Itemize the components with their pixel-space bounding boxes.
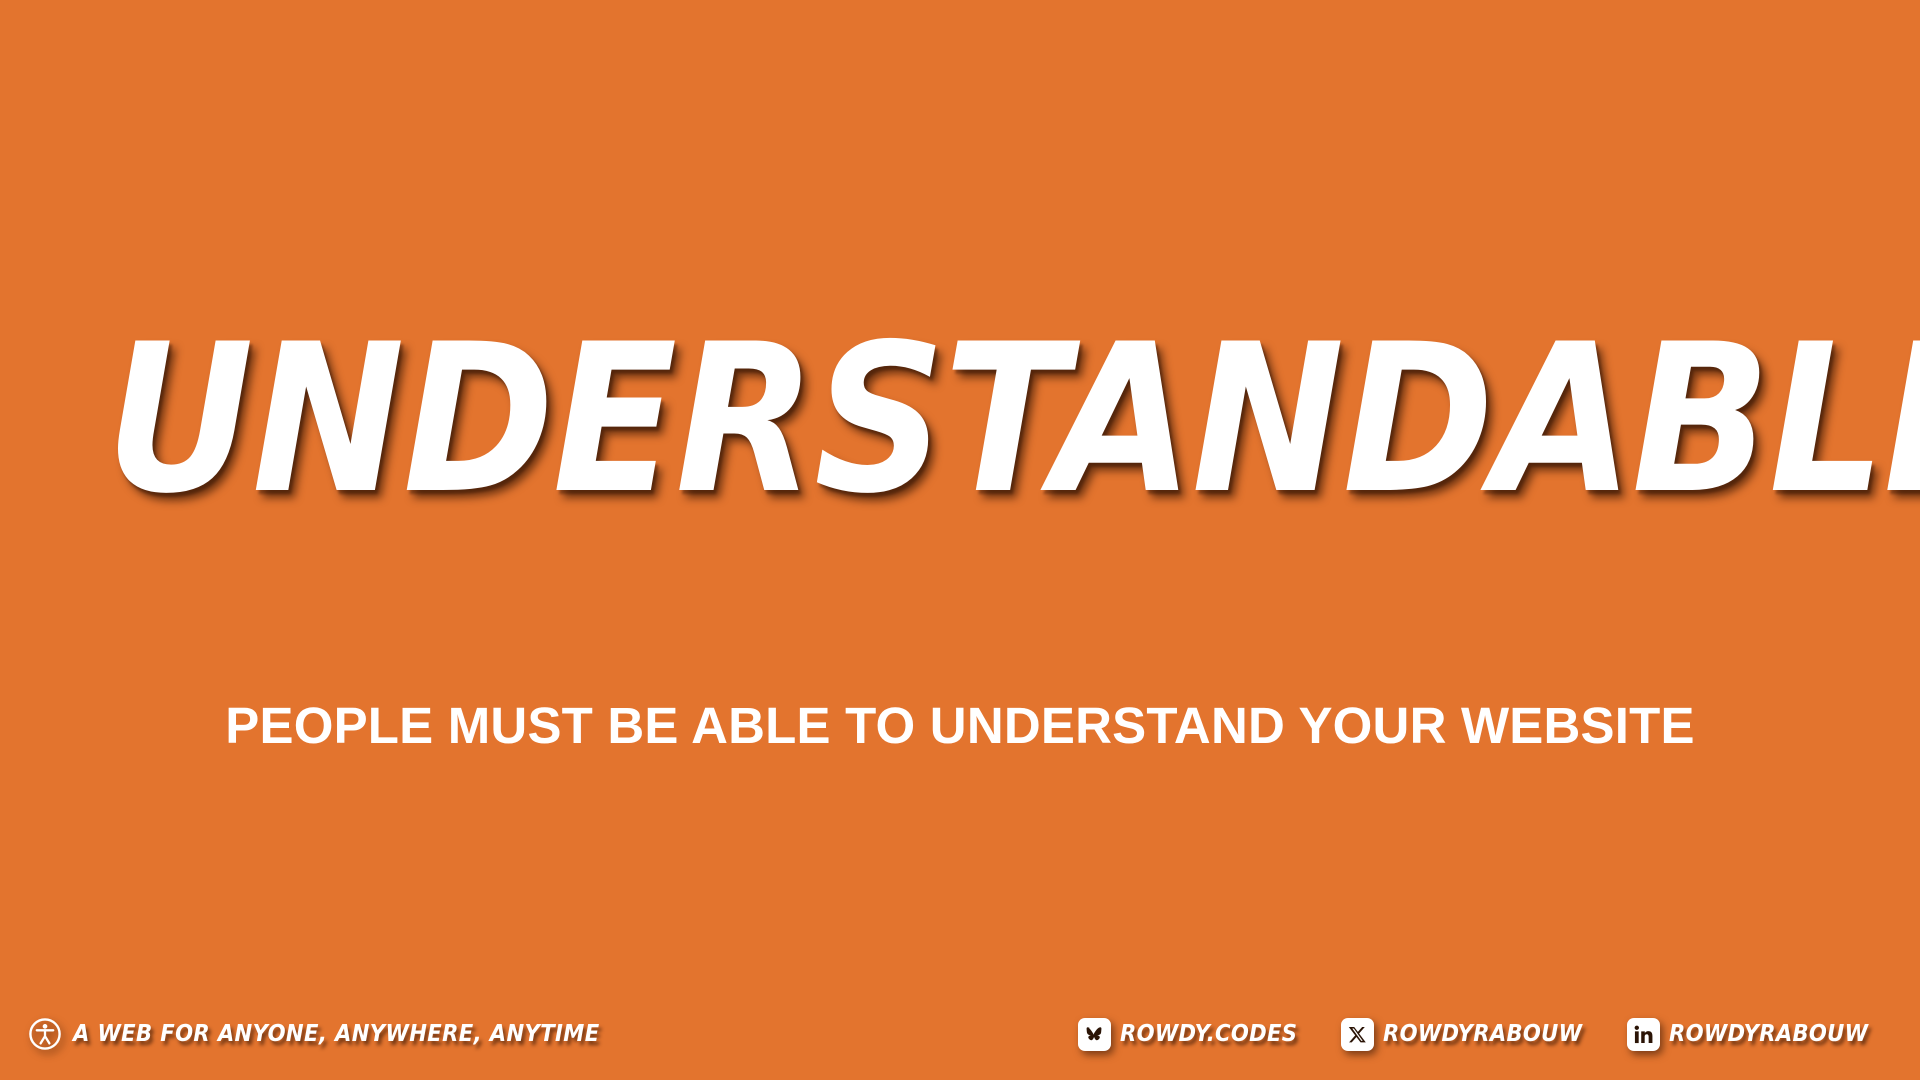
social-handle-linkedin: ROWDYRABOUW xyxy=(1669,1021,1868,1047)
slide-footer: A WEB FOR ANYONE, ANYWHERE, ANYTIME ROWD… xyxy=(0,988,1920,1080)
social-link-x[interactable]: ROWDYRABOUW xyxy=(1341,1018,1600,1051)
social-link-bluesky[interactable]: ROWDY.CODES xyxy=(1078,1018,1313,1051)
social-link-linkedin[interactable]: ROWDYRABOUW xyxy=(1627,1018,1886,1051)
slide-content: UNDERSTANDABLE PEOPLE MUST BE ABLE TO UN… xyxy=(0,0,1920,990)
accessibility-icon xyxy=(28,1017,62,1051)
presentation-slide: UNDERSTANDABLE PEOPLE MUST BE ABLE TO UN… xyxy=(0,0,1920,1080)
linkedin-icon xyxy=(1627,1018,1660,1051)
social-handle-bluesky: ROWDY.CODES xyxy=(1120,1021,1297,1047)
footer-tagline: A WEB FOR ANYONE, ANYWHERE, ANYTIME xyxy=(73,1021,600,1047)
footer-social-links: ROWDY.CODES ROWDYRABOUW xyxy=(1078,1018,1886,1051)
slide-subtitle: PEOPLE MUST BE ABLE TO UNDERSTAND YOUR W… xyxy=(0,700,1920,751)
footer-tagline-group: A WEB FOR ANYONE, ANYWHERE, ANYTIME xyxy=(28,1017,645,1051)
social-handle-x: ROWDYRABOUW xyxy=(1383,1021,1582,1047)
bluesky-butterfly-icon xyxy=(1078,1018,1111,1051)
x-twitter-icon xyxy=(1341,1018,1374,1051)
page-title: UNDERSTANDABLE xyxy=(106,318,1815,523)
